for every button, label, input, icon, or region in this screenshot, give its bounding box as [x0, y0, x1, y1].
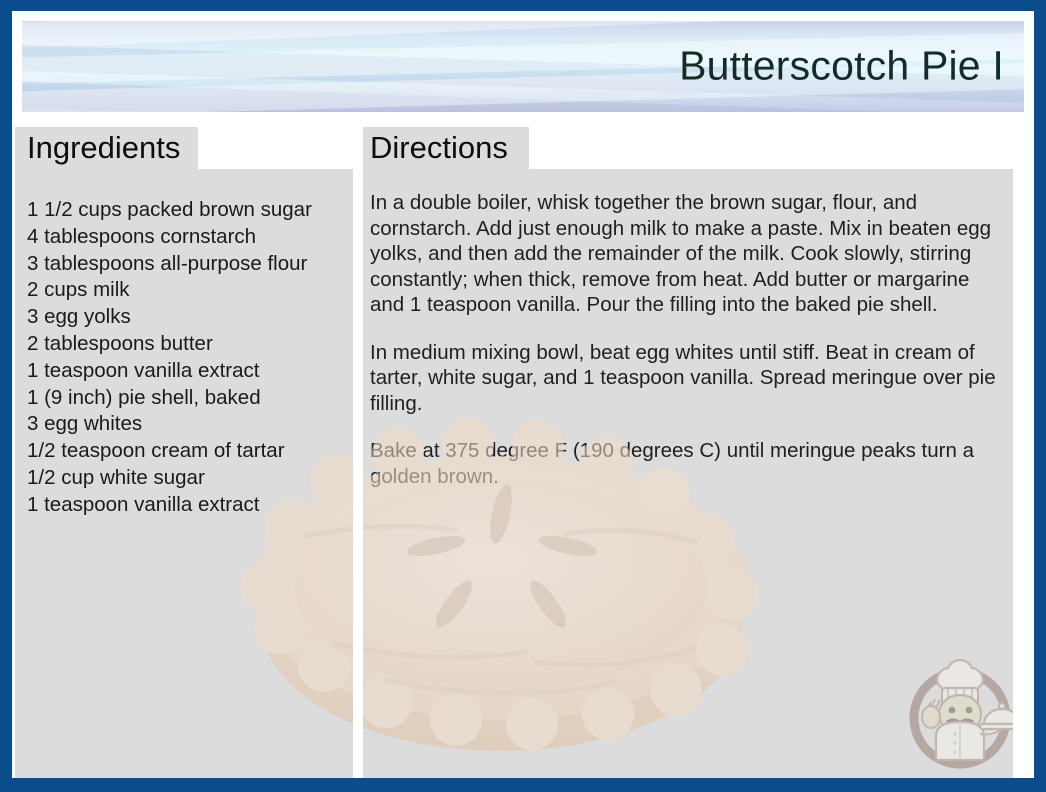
direction-paragraph: Bake at 375 degree F (190 degrees C) unt…	[370, 438, 1003, 489]
panel-gutter-right	[1013, 112, 1035, 792]
recipe-card: Butterscotch Pie I Ingredients 1 1/2 cup…	[0, 0, 1046, 792]
ingredient-item: 3 egg yolks	[27, 304, 339, 331]
card-border-top	[0, 0, 1046, 11]
directions-body: In a double boiler, whisk together the b…	[370, 190, 1003, 489]
ingredient-item: 2 tablespoons butter	[27, 331, 339, 358]
direction-paragraph: In a double boiler, whisk together the b…	[370, 190, 1003, 318]
card-border-left	[0, 0, 12, 792]
tab-ingredients[interactable]: Ingredients	[14, 126, 198, 169]
ingredient-list: 1 1/2 cups packed brown sugar4 tablespoo…	[27, 197, 339, 519]
header-banner: Butterscotch Pie I	[22, 20, 1024, 112]
tab-directions[interactable]: Directions	[363, 126, 529, 169]
tab-directions-label: Directions	[370, 132, 508, 163]
ingredient-item: 1 1/2 cups packed brown sugar	[27, 197, 339, 224]
card-top-margin	[12, 11, 1034, 21]
ingredient-item: 3 egg whites	[27, 411, 339, 438]
card-border-right	[1034, 0, 1046, 792]
tab-ingredients-label: Ingredients	[27, 132, 180, 163]
ingredients-panel: 1 1/2 cups packed brown sugar4 tablespoo…	[14, 169, 353, 778]
panel-gutter	[353, 112, 363, 792]
banner-bottom-margin	[12, 112, 1034, 127]
ingredient-item: 1/2 cup white sugar	[27, 465, 339, 492]
ingredient-item: 1 teaspoon vanilla extract	[27, 358, 339, 385]
ingredient-item: 2 cups milk	[27, 277, 339, 304]
page-title: Butterscotch Pie I	[679, 43, 1004, 90]
ingredient-item: 4 tablespoons cornstarch	[27, 224, 339, 251]
ingredient-item: 1/2 teaspoon cream of tartar	[27, 438, 339, 465]
card-left-margin	[12, 11, 15, 781]
directions-panel: In a double boiler, whisk together the b…	[363, 169, 1013, 778]
ingredient-item: 1 (9 inch) pie shell, baked	[27, 385, 339, 412]
ingredient-item: 1 teaspoon vanilla extract	[27, 492, 339, 519]
card-border-bottom	[0, 778, 1046, 792]
direction-paragraph: In medium mixing bowl, beat egg whites u…	[370, 340, 1003, 417]
ingredient-item: 3 tablespoons all-purpose flour	[27, 251, 339, 278]
